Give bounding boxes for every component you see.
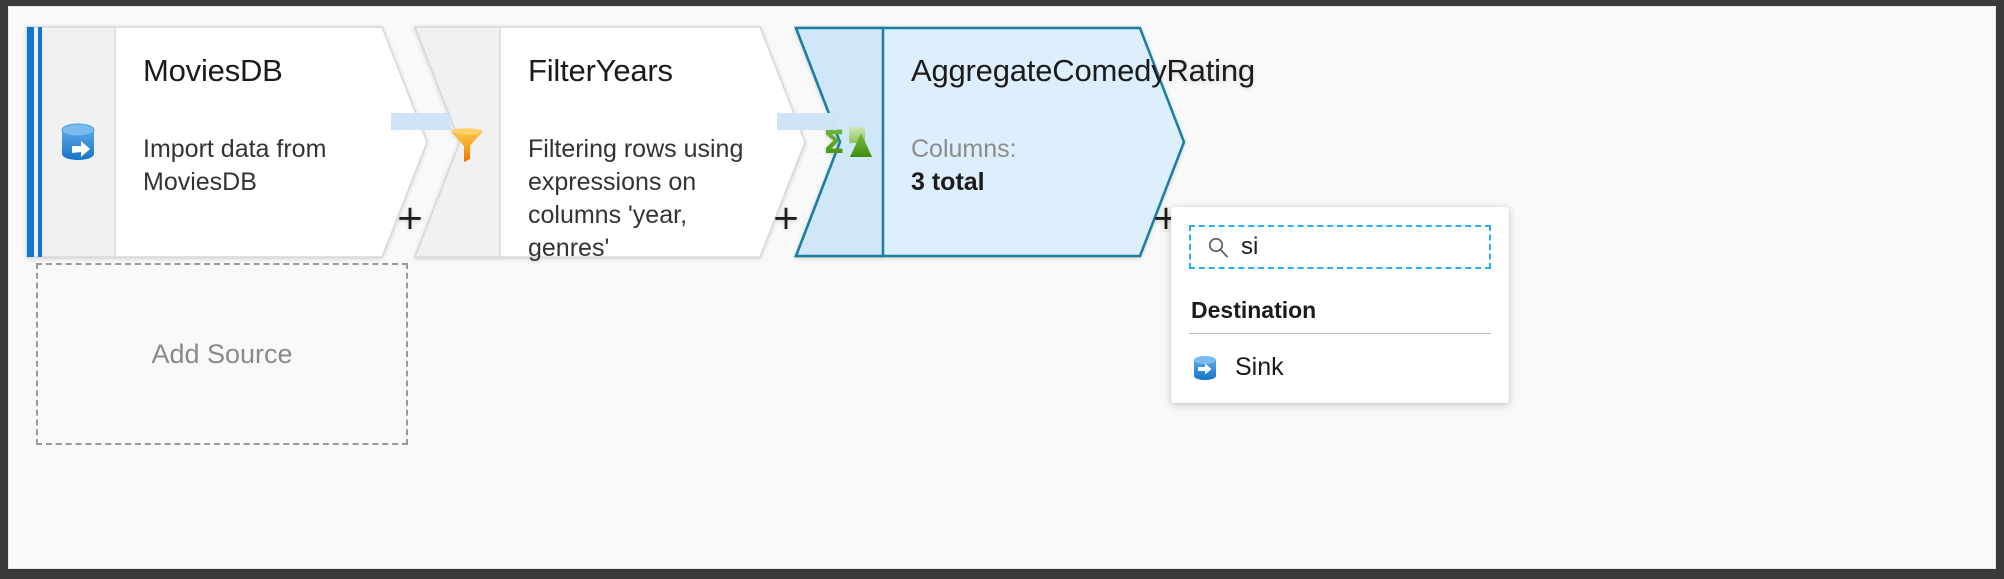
node-body: FilterYears Filtering rows using express… [500, 27, 805, 257]
node-filter-filteryears[interactable]: FilterYears Filtering rows using express… [415, 27, 805, 257]
search-field-wrapper[interactable] [1189, 225, 1491, 269]
node-title: FilterYears [528, 53, 775, 89]
node-aggregate-aggregatecomedyrating[interactable]: Σ AggregateComedyRating Columns: 3 total… [795, 27, 1185, 257]
connector-filter-to-aggregate [777, 113, 837, 130]
database-import-icon [56, 120, 100, 164]
popup-item-label: Sink [1235, 353, 1284, 382]
popup-item-sink[interactable]: Sink [1189, 351, 1491, 384]
node-title: AggregateComedyRating [911, 53, 1255, 89]
columns-label: Columns: [911, 133, 1251, 166]
add-source-label: Add Source [151, 339, 292, 370]
node-icon-rail [415, 27, 500, 257]
columns-value: 3 total [911, 166, 1251, 199]
funnel-filter-icon [446, 121, 488, 163]
node-source-moviesdb[interactable]: MoviesDB Import data from MoviesDB + [27, 27, 427, 257]
add-step-popup[interactable]: Destination Sink [1171, 207, 1509, 403]
node-description: Import data from MoviesDB [143, 133, 393, 199]
search-input[interactable] [1241, 233, 1479, 261]
sink-icon [1191, 354, 1219, 382]
node-columns-info: Columns: 3 total [911, 133, 1251, 199]
search-icon [1207, 236, 1229, 258]
data-flow-canvas[interactable]: MoviesDB Import data from MoviesDB + [8, 6, 1996, 569]
node-icon-rail [27, 27, 115, 257]
add-source-placeholder[interactable]: Add Source [36, 263, 408, 445]
node-description: Filtering rows using expressions on colu… [528, 133, 771, 265]
node-icon-rail: Σ [795, 27, 883, 257]
connector-source-to-filter [391, 113, 451, 130]
popup-section-title: Destination [1189, 297, 1491, 334]
node-body: MoviesDB Import data from MoviesDB [115, 27, 427, 257]
node-title: MoviesDB [143, 53, 397, 89]
